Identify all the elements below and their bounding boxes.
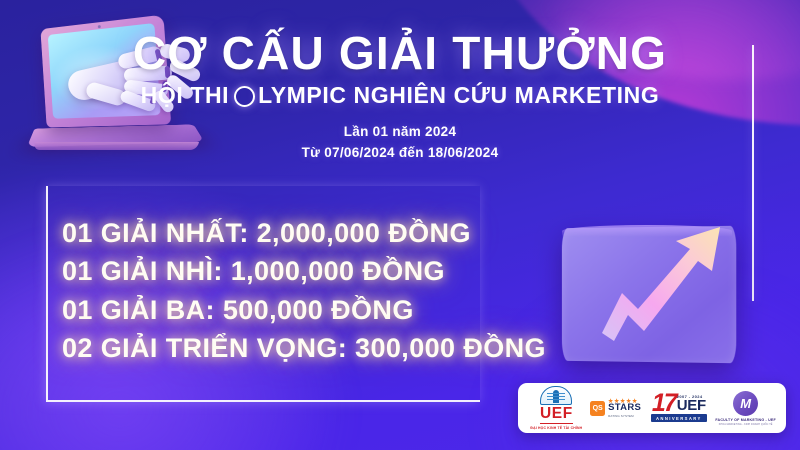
edition-label: Lần 01 năm 2024 [0, 122, 800, 143]
list-item: 01 GIẢI NHÌ: 1,000,000 ĐỒNG [62, 252, 532, 290]
qs-stars-logo: QS STARS RATING SYSTEM [590, 398, 641, 418]
uef-crest-icon [540, 386, 572, 405]
qs-wordmark: STARS [608, 403, 641, 413]
qs-tagline: RATING SYSTEM [608, 414, 634, 418]
growth-arrow-icon [540, 205, 755, 380]
uef-anniversary-logo: 17 2007 - 2024 UEF ANNIVERSARY [648, 394, 710, 423]
anniversary-right-group: 2007 - 2024 UEF [677, 394, 706, 413]
faculty-sub-name: KHOA MARKETING - KINH DOANH QUỐC TẾ [719, 423, 773, 426]
poster-header: CƠ CẤU GIẢI THƯỞNG HỘI THI LYMPIC NGHIÊN… [0, 30, 800, 164]
olympic-ring-icon [234, 86, 255, 107]
list-item: 01 GIẢI NHẤT: 2,000,000 ĐỒNG [62, 214, 532, 252]
growth-arrow-wrapper [540, 205, 755, 380]
anniversary-number: 17 [652, 394, 676, 414]
qs-stars-group: STARS RATING SYSTEM [608, 398, 641, 418]
anniversary-brand: UEF [677, 399, 706, 413]
anniversary-lockup: 17 2007 - 2024 UEF [652, 394, 706, 414]
laptop-camera-icon [97, 25, 100, 28]
uef-logo: UEF ĐẠI HỌC KINH TẾ TÀI CHÍNH [529, 386, 583, 430]
faculty-monogram-icon: M [733, 391, 758, 416]
anniversary-band-label: ANNIVERSARY [651, 414, 707, 422]
faculty-name: FACULTY OF MARKETING - UEF [715, 418, 776, 422]
list-item: 02 GIẢI TRIỂN VỌNG: 300,000 ĐỒNG [62, 329, 532, 367]
subtitle-text-after: LYMPIC NGHIÊN CỨU MARKETING [258, 82, 659, 109]
poster-meta: Lần 01 năm 2024 Từ 07/06/2024 đến 18/06/… [0, 122, 800, 164]
uef-tagline: ĐẠI HỌC KINH TẾ TÀI CHÍNH [530, 426, 582, 430]
uef-wordmark: UEF [540, 406, 573, 424]
faculty-of-marketing-logo: M FACULTY OF MARKETING - UEF KHOA MARKET… [717, 391, 775, 426]
list-item: 01 GIẢI BA: 500,000 ĐỒNG [62, 291, 532, 329]
page-title: CƠ CẤU GIẢI THƯỞNG [0, 30, 800, 78]
sponsor-logo-bar: UEF ĐẠI HỌC KINH TẾ TÀI CHÍNH QS STARS R… [518, 383, 786, 433]
qs-badge-icon: QS [590, 401, 605, 416]
prize-list: 01 GIẢI NHẤT: 2,000,000 ĐỒNG 01 GIẢI NHÌ… [62, 214, 532, 367]
poster-subtitle: HỘI THI LYMPIC NGHIÊN CỨU MARKETING [0, 82, 800, 109]
growth-arrow-chart-illustration [540, 205, 755, 380]
prize-structure-poster: CƠ CẤU GIẢI THƯỞNG HỘI THI LYMPIC NGHIÊN… [0, 0, 800, 450]
subtitle-text-before: HỘI THI [141, 82, 230, 109]
date-range-label: Từ 07/06/2024 đến 18/06/2024 [0, 143, 800, 164]
